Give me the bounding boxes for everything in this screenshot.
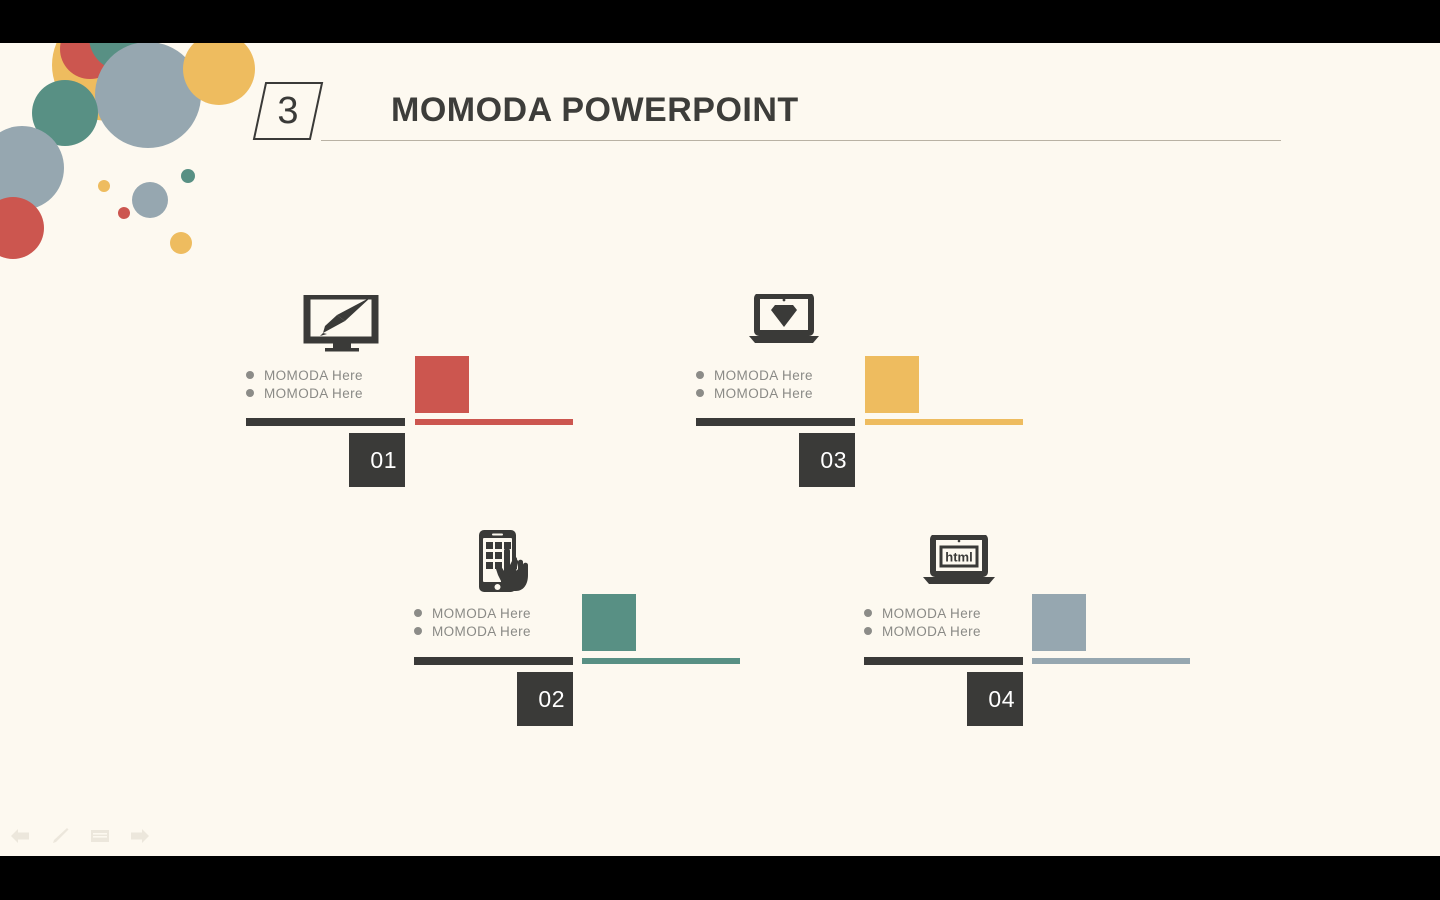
- bullet-text: MOMODA Here: [432, 606, 531, 621]
- section-number-text: 3: [252, 81, 324, 141]
- bullet-text: MOMODA Here: [264, 386, 363, 401]
- laptop-diamond-icon: [747, 294, 821, 346]
- dark-bar-03: [696, 418, 855, 426]
- decor-circle: [98, 180, 110, 192]
- bullet-dot-icon: [246, 371, 254, 379]
- presentation-toolbar[interactable]: [8, 825, 152, 847]
- decor-circle: [132, 182, 168, 218]
- list-item: MOMODA Here: [864, 604, 981, 622]
- decor-circle: [118, 207, 130, 219]
- list-item: MOMODA Here: [246, 384, 363, 402]
- decor-circle: [170, 232, 192, 254]
- accent-bar-01: [415, 419, 573, 425]
- bullet-text: MOMODA Here: [264, 368, 363, 383]
- bullet-text: MOMODA Here: [432, 624, 531, 639]
- letterbox-top: [0, 0, 1440, 43]
- step-number-text: 01: [370, 447, 397, 474]
- bullet-dot-icon: [414, 627, 422, 635]
- bullet-list-01: MOMODA Here MOMODA Here: [246, 366, 363, 402]
- step-number-04: 04: [967, 672, 1023, 726]
- bullet-text: MOMODA Here: [882, 606, 981, 621]
- bullet-text: MOMODA Here: [714, 368, 813, 383]
- letterbox-bottom: [0, 856, 1440, 900]
- accent-square-01: [415, 356, 469, 413]
- bullet-list-02: MOMODA Here MOMODA Here: [414, 604, 531, 640]
- bullet-list-03: MOMODA Here MOMODA Here: [696, 366, 813, 402]
- smartphone-touch-icon: [474, 529, 536, 597]
- laptop-html-icon: html: [920, 535, 998, 587]
- list-item: MOMODA Here: [414, 622, 531, 640]
- bullet-dot-icon: [864, 609, 872, 617]
- dark-bar-04: [864, 657, 1023, 665]
- slide-canvas: 3 MOMODA POWERPOINT MOMODA Here: [0, 43, 1440, 856]
- step-number-text: 02: [538, 686, 565, 713]
- monitor-paintbrush-icon: [303, 295, 379, 353]
- bullet-dot-icon: [864, 627, 872, 635]
- html-label: html: [945, 550, 972, 565]
- list-item: MOMODA Here: [696, 384, 813, 402]
- bullet-text: MOMODA Here: [882, 624, 981, 639]
- accent-bar-02: [582, 658, 740, 664]
- accent-bar-04: [1032, 658, 1190, 664]
- bullet-dot-icon: [696, 389, 704, 397]
- accent-square-02: [582, 594, 636, 651]
- section-number-badge: 3: [252, 81, 324, 141]
- bullet-list-04: MOMODA Here MOMODA Here: [864, 604, 981, 640]
- step-number-text: 04: [988, 686, 1015, 713]
- step-number-02: 02: [517, 672, 573, 726]
- next-slide-button[interactable]: [128, 825, 152, 847]
- title-underline: [321, 140, 1281, 141]
- accent-square-03: [865, 356, 919, 413]
- list-item: MOMODA Here: [414, 604, 531, 622]
- step-number-text: 03: [820, 447, 847, 474]
- bullet-dot-icon: [414, 609, 422, 617]
- step-number-03: 03: [799, 433, 855, 487]
- bullet-dot-icon: [696, 371, 704, 379]
- dark-bar-01: [246, 418, 405, 426]
- decor-circle: [181, 169, 195, 183]
- pen-tool-button[interactable]: [48, 825, 72, 847]
- dark-bar-02: [414, 657, 573, 665]
- bullet-text: MOMODA Here: [714, 386, 813, 401]
- bullet-dot-icon: [246, 389, 254, 397]
- page-title: MOMODA POWERPOINT: [391, 91, 799, 130]
- accent-square-04: [1032, 594, 1086, 651]
- list-item: MOMODA Here: [696, 366, 813, 384]
- list-item: MOMODA Here: [246, 366, 363, 384]
- list-item: MOMODA Here: [864, 622, 981, 640]
- presentation-viewer: 3 MOMODA POWERPOINT MOMODA Here: [0, 0, 1440, 900]
- step-number-01: 01: [349, 433, 405, 487]
- previous-slide-button[interactable]: [8, 825, 32, 847]
- notes-button[interactable]: [88, 825, 112, 847]
- accent-bar-03: [865, 419, 1023, 425]
